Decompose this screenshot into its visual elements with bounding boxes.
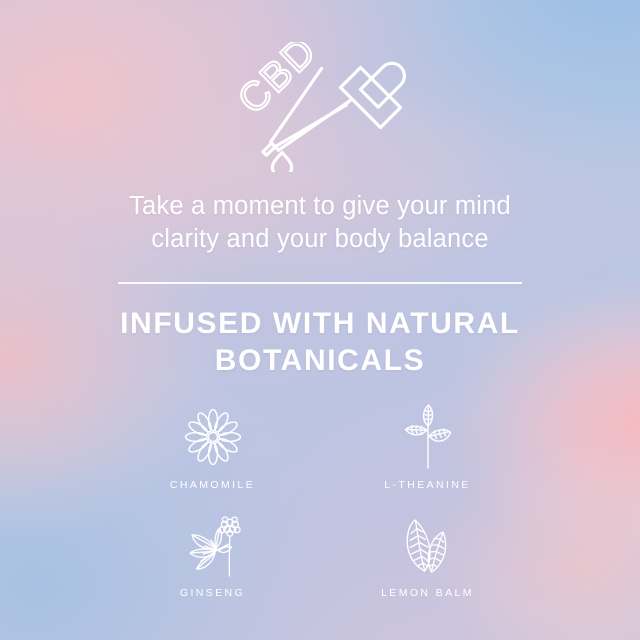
brand-logo: CBD [200,42,440,172]
ingredients-grid: CHAMOMILE [105,405,535,599]
headline-line-1: INFUSED WITH NATURAL [60,306,580,343]
tea-sprig-icon [397,405,459,469]
poster-canvas: CBD Take a moment to give your mind clar… [0,0,640,640]
headline-line-2: BOTANICALS [60,343,580,380]
chamomile-flower-icon [182,405,244,469]
headline: INFUSED WITH NATURAL BOTANICALS [60,306,580,379]
ingredient-chamomile: CHAMOMILE [105,405,320,491]
ingredient-label-ginseng: GINSENG [180,587,245,599]
ingredient-label-lemon-balm: LEMON BALM [381,587,474,599]
divider-rule [118,282,522,284]
ingredient-label-chamomile: CHAMOMILE [170,479,255,491]
ingredient-lemon-balm: LEMON BALM [320,513,535,599]
ingredient-label-l-theanine: L-THEANINE [384,479,470,491]
dropper-icon: CBD [200,42,440,172]
ingredient-ginseng: GINSENG [105,513,320,599]
poster-content: CBD Take a moment to give your mind clar… [0,0,640,640]
tagline-line-2: clarity and your body balance [85,223,555,256]
tagline: Take a moment to give your mind clarity … [85,190,555,255]
lemon-balm-leaves-icon [396,513,460,577]
ginseng-plant-icon [181,513,245,577]
tagline-line-1: Take a moment to give your mind [85,190,555,223]
ingredient-l-theanine: L-THEANINE [320,405,535,491]
